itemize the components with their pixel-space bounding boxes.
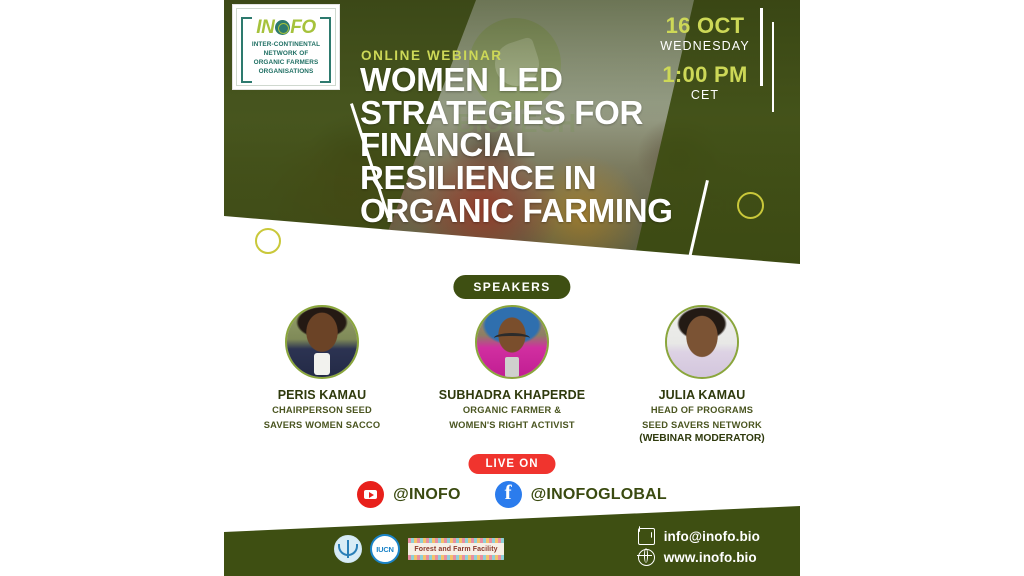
partner-logos: IUCN Forest and Farm Facility xyxy=(334,534,504,564)
forest-and-farm-facility-logo: Forest and Farm Facility xyxy=(408,538,504,560)
poster-canvas: BIOTECH KONGRESS ONLINE WEBINAR WOMEN LE… xyxy=(0,0,1024,576)
live-on-badge: LIVE ON xyxy=(468,454,555,474)
speaker-portrait xyxy=(477,307,547,377)
social-channels: @INOFO @INOFOGLOBAL xyxy=(224,481,800,508)
avatar xyxy=(665,305,739,379)
title-line-3: FINANCIAL xyxy=(360,129,730,162)
speaker-card: SUBHADRA KHAPERDE ORGANIC FARMER & WOMEN… xyxy=(428,305,596,432)
event-date-block: 16 OCT WEDNESDAY 1:00 PM CET xyxy=(650,14,760,102)
contact-website: www.inofo.bio xyxy=(664,550,757,565)
youtube-handle: @INOFO xyxy=(393,486,460,504)
bracket-left-icon xyxy=(241,17,252,83)
speaker-name: PERIS KAMAU xyxy=(238,388,406,402)
speaker-role-line-1: HEAD OF PROGRAMS xyxy=(618,404,786,417)
speaker-card: PERIS KAMAU CHAIRPERSON SEED SAVERS WOME… xyxy=(238,305,406,432)
inofo-tagline-line-3: ORGANIC FARMERS xyxy=(252,58,320,67)
inofo-logo: IN FO INTER-CONTINENTAL NETWORK OF ORGAN… xyxy=(232,4,340,90)
speaker-portrait xyxy=(287,307,357,377)
speaker-name: SUBHADRA KHAPERDE xyxy=(428,388,596,402)
wordmark-suffix: FO xyxy=(290,18,315,37)
hero-section: BIOTECH KONGRESS ONLINE WEBINAR WOMEN LE… xyxy=(224,0,800,268)
inofo-tagline-line-2: NETWORK OF xyxy=(252,49,320,58)
event-time: 1:00 PM xyxy=(650,63,760,87)
inofo-logo-frame: IN FO INTER-CONTINENTAL NETWORK OF ORGAN… xyxy=(236,8,336,86)
webinar-poster: BIOTECH KONGRESS ONLINE WEBINAR WOMEN LE… xyxy=(224,0,800,576)
youtube-channel[interactable]: @INOFO xyxy=(357,481,460,508)
facebook-icon[interactable] xyxy=(495,481,522,508)
globe-icon xyxy=(275,20,290,35)
facebook-handle: @INOFOGLOBAL xyxy=(531,486,667,504)
contact-email: info@inofo.bio xyxy=(664,529,760,544)
facebook-channel[interactable]: @INOFOGLOBAL xyxy=(495,481,667,508)
contact-block: info@inofo.bio www.inofo.bio xyxy=(638,528,760,570)
avatar xyxy=(285,305,359,379)
speaker-portrait xyxy=(667,307,737,377)
website-row[interactable]: www.inofo.bio xyxy=(638,549,760,566)
speaker-moderator-note: (WEBINAR MODERATOR) xyxy=(618,433,786,444)
speaker-role-line-2: SEED SAVERS NETWORK xyxy=(618,419,786,432)
decorative-circle-right xyxy=(737,192,764,219)
youtube-icon[interactable] xyxy=(357,481,384,508)
speaker-role-line-1: ORGANIC FARMER & xyxy=(428,404,596,417)
decorative-line-top-right xyxy=(760,8,763,86)
title-line-5: ORGANIC FARMING xyxy=(360,195,730,228)
speaker-role-line-2: SAVERS WOMEN SACCO xyxy=(238,419,406,432)
globe-icon xyxy=(638,549,655,566)
bracket-right-icon xyxy=(320,17,331,83)
iucn-logo-label: IUCN xyxy=(376,545,394,554)
inofo-tagline: INTER-CONTINENTAL NETWORK OF ORGANIC FAR… xyxy=(252,40,320,76)
event-timezone: CET xyxy=(650,88,760,102)
mail-icon xyxy=(638,528,655,545)
fao-logo-icon xyxy=(334,535,362,563)
fff-label: Forest and Farm Facility xyxy=(414,546,497,553)
inofo-wordmark: IN FO xyxy=(256,18,315,37)
wordmark-prefix: IN xyxy=(256,18,274,37)
speakers-list: PERIS KAMAU CHAIRPERSON SEED SAVERS WOME… xyxy=(224,305,800,444)
event-day: WEDNESDAY xyxy=(650,39,760,53)
iucn-logo-icon: IUCN xyxy=(370,534,400,564)
inofo-tagline-line-1: INTER-CONTINENTAL xyxy=(252,40,320,49)
email-row[interactable]: info@inofo.bio xyxy=(638,528,760,545)
title-line-4: RESILIENCE IN xyxy=(360,162,730,195)
footer-bar: IUCN Forest and Farm Facility info@inofo… xyxy=(224,504,800,576)
inofo-tagline-line-4: ORGANISATIONS xyxy=(252,67,320,76)
speaker-role-line-2: WOMEN'S RIGHT ACTIVIST xyxy=(428,419,596,432)
date-divider xyxy=(772,22,774,112)
event-date: 16 OCT xyxy=(650,14,760,38)
speakers-badge: SPEAKERS xyxy=(453,275,570,299)
speaker-role-line-1: CHAIRPERSON SEED xyxy=(238,404,406,417)
avatar xyxy=(475,305,549,379)
decorative-circle-left xyxy=(255,228,281,254)
speaker-card: JULIA KAMAU HEAD OF PROGRAMS SEED SAVERS… xyxy=(618,305,786,444)
speaker-name: JULIA KAMAU xyxy=(618,388,786,402)
